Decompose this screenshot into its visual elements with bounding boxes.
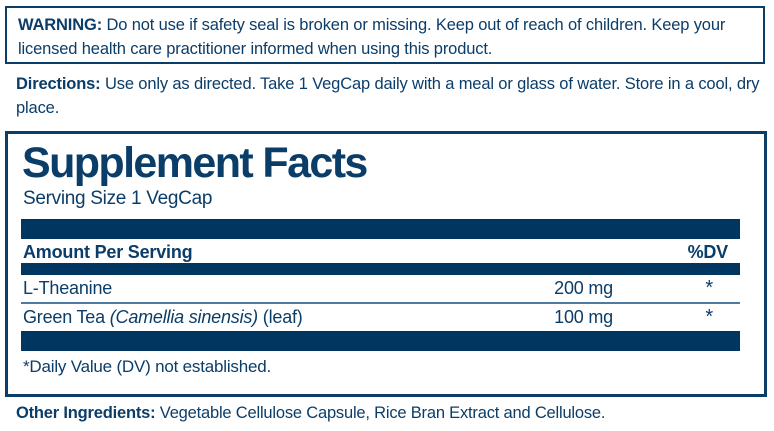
- nutrient-amount: 100 mg: [493, 305, 621, 329]
- nutrient-daily-value: *: [621, 276, 740, 300]
- directions-label: Directions:: [16, 75, 101, 93]
- nutrient-amount: 200 mg: [493, 276, 621, 300]
- supplement-label-page: WARNING: Do not use if safety seal is br…: [0, 0, 774, 431]
- directions-body: Use only as directed. Take 1 VegCap dail…: [16, 75, 759, 117]
- table-row: L-Theanine 200 mg *: [21, 275, 740, 302]
- directions-text: Directions: Use only as directed. Take 1…: [16, 72, 764, 120]
- supplement-facts-panel: Supplement Facts Serving Size 1 VegCap A…: [5, 131, 767, 397]
- table-row: Green Tea (Camellia sinensis) (leaf) 100…: [21, 304, 740, 331]
- nutrient-name: Green Tea (Camellia sinensis) (leaf): [21, 305, 493, 329]
- other-ingredients-text: Other Ingredients: Vegetable Cellulose C…: [16, 402, 766, 424]
- daily-value-footnote: *Daily Value (DV) not established.: [21, 351, 740, 378]
- other-ingredients-label: Other Ingredients:: [16, 404, 155, 422]
- divider-bar-top: [21, 219, 740, 239]
- header-daily-value: %DV: [636, 240, 740, 264]
- nutrient-name-suffix: (leaf): [258, 307, 303, 327]
- supplement-facts-title: Supplement Facts: [21, 134, 740, 185]
- warning-body: Do not use if safety seal is broken or m…: [18, 16, 725, 58]
- divider-bar-bottom: [21, 331, 740, 351]
- nutrient-name-prefix: Green Tea: [23, 307, 110, 327]
- warning-label: WARNING:: [18, 16, 102, 34]
- other-ingredients-body: Vegetable Cellulose Capsule, Rice Bran E…: [155, 404, 605, 422]
- header-amount-per-serving: Amount Per Serving: [21, 240, 508, 264]
- table-header-row: Amount Per Serving %DV: [21, 239, 740, 263]
- divider-bar-header: [21, 263, 740, 275]
- warning-box: WARNING: Do not use if safety seal is br…: [5, 6, 765, 64]
- nutrient-name-prefix: L-Theanine: [23, 278, 112, 298]
- serving-size-text: Serving Size 1 VegCap: [21, 185, 740, 210]
- nutrient-daily-value: *: [621, 305, 740, 329]
- supplement-facts-inner: Supplement Facts Serving Size 1 VegCap A…: [21, 134, 740, 378]
- warning-text: WARNING: Do not use if safety seal is br…: [18, 13, 754, 61]
- nutrient-scientific-name: (Camellia sinensis): [110, 307, 258, 327]
- nutrient-name: L-Theanine: [21, 276, 493, 300]
